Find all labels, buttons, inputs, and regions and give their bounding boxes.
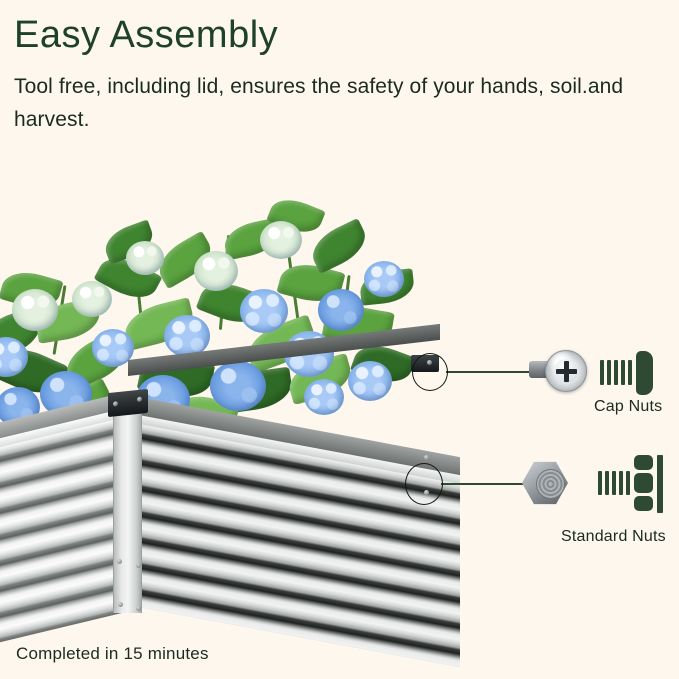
callout-line-cap-nuts [446,371,531,373]
callout-label-cap-nuts: Cap Nuts [594,398,662,416]
bed-corner-bracket [108,389,148,417]
hex-nut-photo [516,461,576,507]
callout-label-standard-nuts: Standard Nuts [561,528,666,546]
bed-corner-post [113,413,142,613]
page-title: Easy Assembly [14,12,278,58]
raised-garden-bed [0,155,460,615]
phillips-slot-horizontal [556,369,577,374]
hydrangea-plant [0,165,408,435]
infographic-page: Easy Assembly Tool free, including lid, … [0,0,679,679]
page-subtitle: Tool free, including lid, ensures the sa… [14,70,634,136]
cap-nut-head [545,350,587,392]
standard-nut-diagram-icon [598,455,664,513]
completion-time-note: Completed in 15 minutes [16,644,209,664]
cap-nut-diagram-icon [600,351,662,395]
corrugated-texture-side [0,411,130,642]
product-scene: Cap Nuts Standard Nuts [0,155,679,625]
hex-nut-thread-bore [536,469,565,499]
callout-line-standard-nuts [441,483,523,485]
callout-ring-standard-nuts [405,463,443,505]
bed-side-panel [0,411,130,642]
cap-nut-screw-photo [527,348,589,396]
callout-ring-cap-nuts [412,353,448,391]
